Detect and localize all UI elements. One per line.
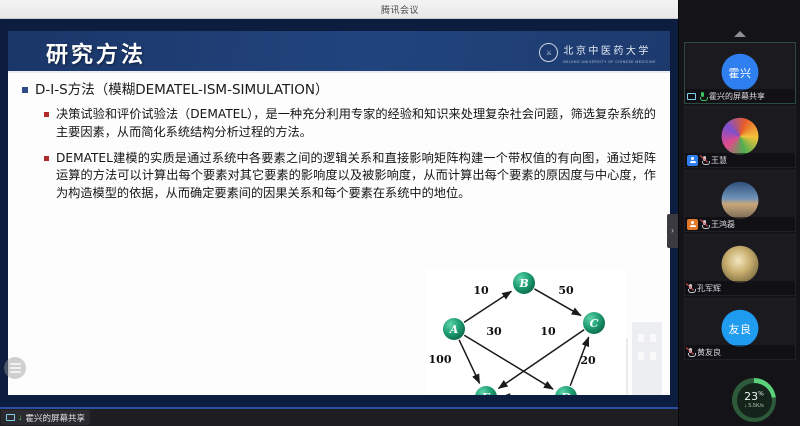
bullet-square-icon (44, 156, 49, 161)
avatar (722, 182, 759, 219)
meeting-window: 腾讯会议 正在讲话: 霍兴 ↩ 研究方法 ⚔ 北京中医药大学 BEIJING U… (0, 0, 800, 426)
participant-tile[interactable]: 友良黄友良 (684, 298, 796, 360)
graph-node-label: C (590, 317, 599, 330)
bullet-square-icon (44, 112, 49, 117)
download-percent: 23% (744, 391, 764, 402)
microphone-muted-icon (687, 284, 694, 293)
graph-node-label: B (518, 277, 528, 290)
slide-header: 研究方法 ⚔ 北京中医药大学 BEIJING UNIVERSITY OF CHI… (8, 31, 670, 73)
shared-screen-area[interactable]: 研究方法 ⚔ 北京中医药大学 BEIJING UNIVERSITY OF CHI… (0, 19, 678, 407)
slide-bullet-level2: DEMATEL建模的实质是通过系统中各要素之间的逻辑关系和直接影响矩阵构建一个带… (44, 150, 656, 203)
graph-edge-weight: 10 (473, 284, 489, 297)
slide-bullet-text: D-I-S方法（模糊DEMATEL-ISM-SIMULATION） (35, 81, 329, 99)
university-name-en: BEIJING UNIVERSITY OF CHINESE MEDICINE (563, 60, 656, 64)
list-menu-icon[interactable] (4, 357, 26, 379)
participant-tile-list: 霍兴霍兴的屏幕共享王慧王鸿磊孔军辉友良黄友良 (679, 42, 800, 362)
presentation-slide: 研究方法 ⚔ 北京中医药大学 BEIJING UNIVERSITY OF CHI… (8, 31, 670, 395)
download-arrow-icon: ↓ (18, 413, 23, 422)
download-progress-widget[interactable]: 23% ↓ 5.5K/s (732, 378, 776, 422)
participant-rail[interactable]: 霍兴霍兴的屏幕共享王慧王鸿磊孔军辉友良黄友良 23% ↓ 5.5K/s (678, 0, 800, 426)
graph-node-label: D (560, 391, 571, 395)
participant-name: 王鸿磊 (711, 219, 735, 230)
participant-badge-icon (687, 219, 698, 230)
microphone-muted-icon (701, 220, 708, 229)
graph-edge-weight: 30 (486, 325, 502, 338)
graph-edge-weight: 10 (540, 325, 556, 338)
microphone-icon (699, 92, 706, 101)
share-status-label: 霍兴的屏幕共享 (26, 412, 86, 424)
slide-bullet-level1: D-I-S方法（模糊DEMATEL-ISM-SIMULATION） (22, 81, 656, 99)
graph-node-label: E (481, 391, 491, 395)
screen-share-icon (6, 414, 15, 421)
slide-title: 研究方法 (46, 37, 146, 69)
panel-collapse-tab[interactable]: › (667, 214, 678, 248)
microphone-muted-icon (701, 156, 708, 165)
download-speed: ↓ 5.5K/s (744, 403, 764, 409)
microphone-muted-icon (687, 348, 694, 357)
graph-canvas: 105030101002060 ABCDE (426, 269, 626, 395)
university-name-cn: 北京中医药大学 (563, 46, 651, 57)
graph-node-label: A (449, 323, 459, 336)
slide-bullet-text: 决策试验和评价试验法（DEMATEL），是一种充分利用专家的经验和知识来处理复杂… (56, 106, 656, 141)
participant-name: 黄友良 (697, 347, 721, 358)
rail-scroll-up-button[interactable] (679, 26, 800, 42)
caret-up-icon (734, 31, 746, 37)
graph-edge-weight: 50 (558, 284, 574, 297)
share-status-bar: ↓ 霍兴的屏幕共享 (0, 407, 678, 426)
avatar (722, 118, 759, 155)
participant-footer: 王鸿磊 (685, 217, 795, 231)
graph-edge-weight: 20 (580, 354, 596, 367)
chevron-right-icon: › (671, 227, 674, 235)
participant-name: 孔军辉 (697, 283, 721, 294)
participant-name: 霍兴的屏幕共享 (709, 91, 765, 102)
progress-core: 23% ↓ 5.5K/s (737, 383, 772, 418)
graph-nodes: ABCDE (443, 272, 605, 395)
university-logo: ⚔ 北京中医药大学 BEIJING UNIVERSITY OF CHINESE … (539, 41, 656, 64)
university-seal-icon: ⚔ (539, 43, 558, 62)
participant-tile[interactable]: 王慧 (684, 106, 796, 168)
graph-edge (459, 340, 480, 384)
avatar (722, 246, 759, 283)
share-status-tag[interactable]: ↓ 霍兴的屏幕共享 (1, 410, 90, 425)
avatar: 霍兴 (722, 54, 759, 91)
participant-badge-icon (687, 155, 698, 166)
participant-tile[interactable]: 孔军辉 (684, 234, 796, 296)
participant-tile[interactable]: 霍兴霍兴的屏幕共享 (684, 42, 796, 104)
window-title: 腾讯会议 (381, 3, 419, 16)
participant-footer: 霍兴的屏幕共享 (685, 89, 795, 103)
slide-bullet-level2: 决策试验和评价试验法（DEMATEL），是一种充分利用专家的经验和知识来处理复杂… (44, 106, 656, 141)
participant-name: 王慧 (711, 155, 727, 166)
screen-share-icon (687, 93, 696, 100)
participant-tile[interactable]: 王鸿磊 (684, 170, 796, 232)
slide-bullet-text: DEMATEL建模的实质是通过系统中各要素之间的逻辑关系和直接影响矩阵构建一个带… (56, 150, 656, 203)
dematel-graph-figure: 105030101002060 ABCDE (426, 269, 626, 395)
participant-footer: 黄友良 (685, 345, 795, 359)
graph-edges (459, 289, 589, 395)
participant-footer: 孔军辉 (685, 281, 795, 295)
graph-edge (498, 330, 584, 389)
graph-edge-weight: 100 (429, 353, 452, 366)
participant-footer: 王慧 (685, 153, 795, 167)
avatar: 友良 (722, 310, 759, 347)
bullet-square-icon (22, 87, 28, 93)
progress-ring: 23% ↓ 5.5K/s (732, 378, 776, 422)
